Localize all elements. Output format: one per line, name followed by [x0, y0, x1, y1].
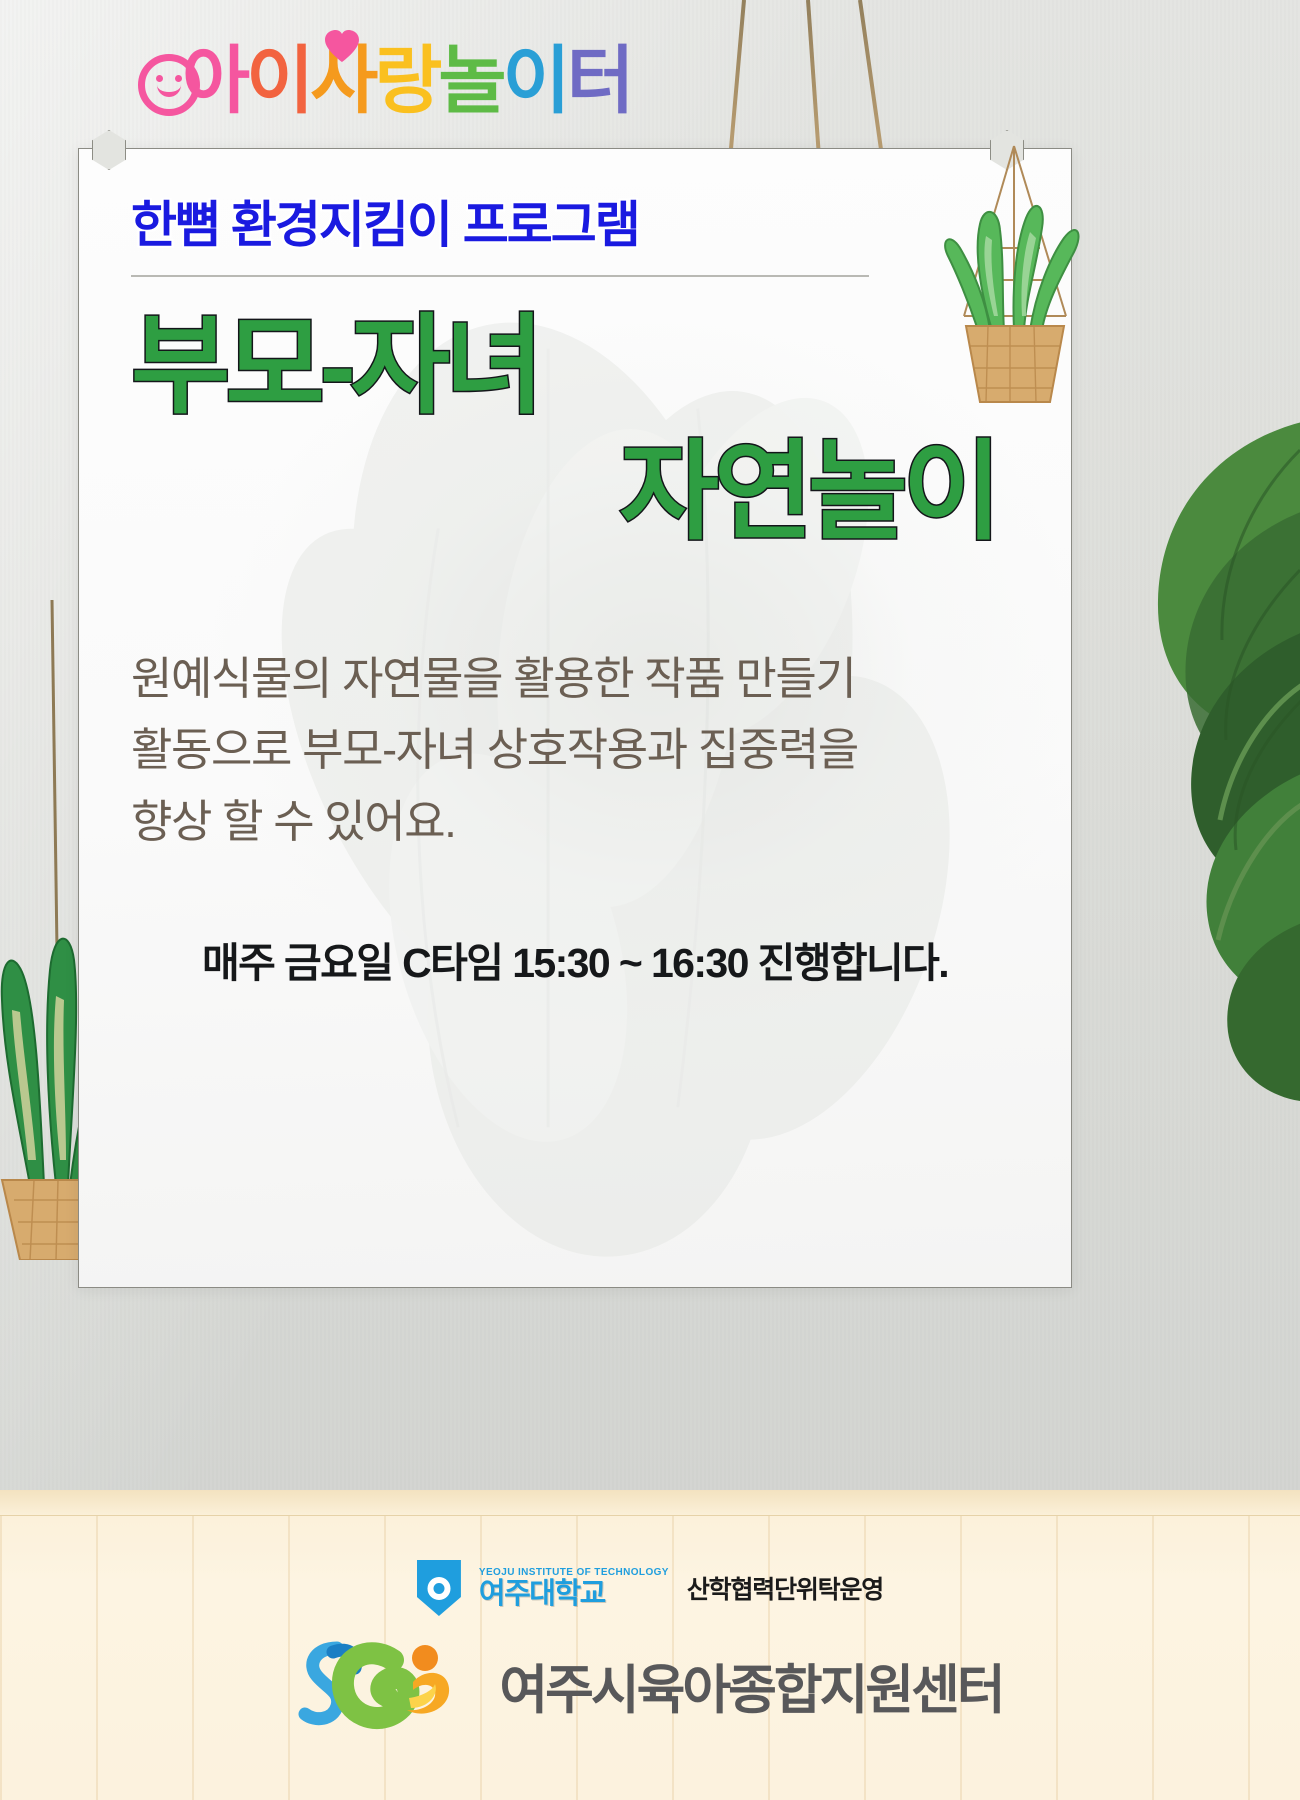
description-line-2: 활동으로 부모-자녀 상호작용과 집중력을 [131, 714, 1019, 785]
university-operation-note: 산학협력단위탁운영 [687, 1570, 883, 1606]
childcare-center-logo-icon [297, 1638, 477, 1734]
kicker-divider [131, 275, 869, 277]
logo-char-6: 터 [567, 44, 631, 118]
university-name-kr: 여주대학교 [479, 1580, 605, 1609]
poster-board: 한뼘 환경지킴이 프로그램 부모-자녀 자연놀이 원예식물의 자연물을 활용한 … [78, 148, 1072, 1288]
logo-char-4: 놀 [438, 44, 502, 118]
poster-description: 원예식물의 자연물을 활용한 작품 만들기 활동으로 부모-자녀 상호작용과 집… [131, 643, 1019, 856]
university-row: YEOJU INSTITUTE OF TECHNOLOGY 여주대학교 산학협력… [417, 1560, 883, 1616]
footer-logos: YEOJU INSTITUTE OF TECHNOLOGY 여주대학교 산학협력… [0, 1560, 1300, 1734]
logo-char-3: 랑 [374, 44, 438, 118]
smiley-face-icon [138, 54, 200, 116]
logo-char-1: 이 [246, 44, 310, 118]
center-row: 여주시육아종합지원센터 [297, 1638, 1002, 1734]
program-kicker: 한뼘 환경지킴이 프로그램 [131, 185, 1019, 257]
hanging-basket-plant [930, 140, 1100, 420]
logo-char-5: 이 [502, 44, 566, 118]
university-shield-icon [417, 1560, 461, 1616]
university-name-en: YEOJU INSTITUTE OF TECHNOLOGY [479, 1568, 669, 1578]
brand-logo: 아 이 사 랑 놀 이 터 [140, 34, 631, 118]
poster-title: 부모-자녀 자연놀이 [131, 311, 1019, 547]
floor-edge [0, 1490, 1300, 1516]
description-line-1: 원예식물의 자연물을 활용한 작품 만들기 [131, 643, 1019, 714]
title-line-2: 자연놀이 [131, 437, 1019, 547]
description-line-3: 향상 할 수 있어요. [131, 786, 1019, 857]
schedule-text: 매주 금요일 C타임 15:30 ~ 16:30 진행합니다. [131, 929, 1019, 989]
title-line-1: 부모-자녀 [131, 311, 1019, 421]
center-name: 여주시육아종합지원센터 [499, 1648, 1002, 1724]
